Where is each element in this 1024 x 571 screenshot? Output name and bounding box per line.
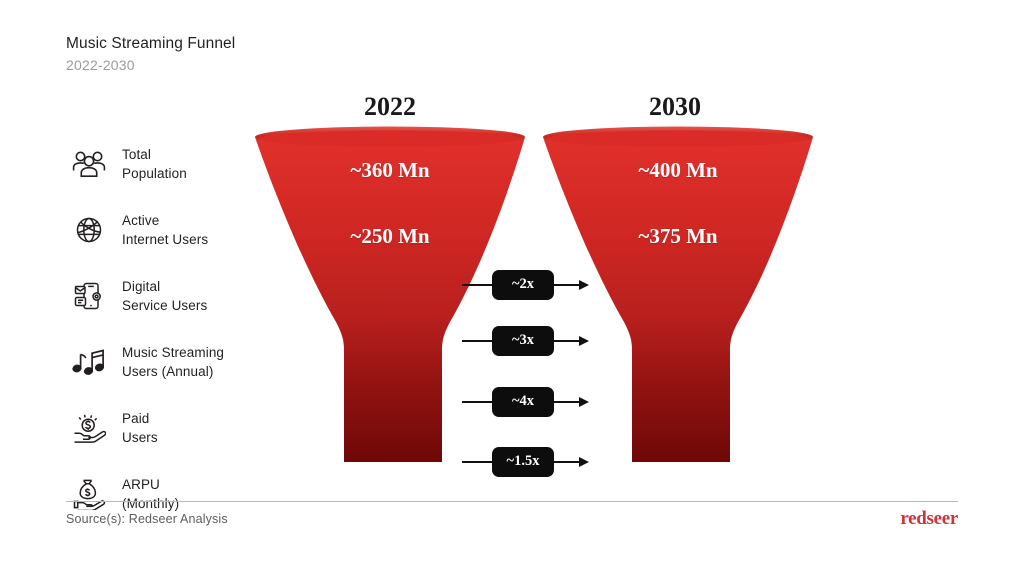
page-title: Music Streaming Funnel xyxy=(66,34,235,55)
hand-money-bag-icon xyxy=(66,472,112,516)
connector-line-left xyxy=(462,401,492,403)
multiplier-badge: ~1.5x xyxy=(492,447,554,477)
stage-row-music-streaming-users: Music Streaming Users (Annual) xyxy=(66,336,266,388)
globe-network-icon xyxy=(66,208,112,252)
arrow-right-icon xyxy=(554,461,580,463)
column-heading-2030: 2030 xyxy=(595,92,755,122)
page-subtitle: 2022-2030 xyxy=(66,56,235,75)
redseer-logo: redseer xyxy=(900,508,958,530)
stage-row-paid-users: Paid Users xyxy=(66,402,266,454)
stage-row-digital-service-users: Digital Service Users xyxy=(66,270,266,322)
stage-row-total-population: Total Population xyxy=(66,138,266,190)
stage-row-active-internet-users: Active Internet Users xyxy=(66,204,266,256)
multiplier-row-paid-users: ~4x xyxy=(462,386,602,418)
multiplier-badge: ~2x xyxy=(492,270,554,300)
stage-label: Digital Service Users xyxy=(122,277,207,315)
arrow-right-icon xyxy=(554,340,580,342)
footer-divider xyxy=(66,501,958,502)
arrow-right-icon xyxy=(554,401,580,403)
connector-line-left xyxy=(462,461,492,463)
multiplier-badge: ~4x xyxy=(492,387,554,417)
stage-label: Active Internet Users xyxy=(122,211,208,249)
stage-label: Paid Users xyxy=(122,409,158,447)
people-group-icon xyxy=(66,142,112,186)
growth-multiplier-column: ~2x ~3x ~4x ~1.5x xyxy=(462,126,602,476)
stage-label: ARPU (Monthly) xyxy=(122,475,179,513)
stage-label: Total Population xyxy=(122,145,187,183)
multiplier-row-arpu: ~1.5x xyxy=(462,446,602,478)
chart-header: Music Streaming Funnel 2022-2030 xyxy=(66,34,235,75)
mobile-device-icon xyxy=(66,274,112,318)
hand-coin-icon xyxy=(66,406,112,450)
stage-label: Music Streaming Users (Annual) xyxy=(122,343,224,381)
arrow-right-icon xyxy=(554,284,580,286)
source-note: Source(s): Redseer Analysis xyxy=(66,512,228,526)
multiplier-row-digital-service-users: ~2x xyxy=(462,269,602,301)
connector-line-left xyxy=(462,340,492,342)
column-heading-2022: 2022 xyxy=(310,92,470,122)
music-notes-icon xyxy=(66,340,112,384)
connector-line-left xyxy=(462,284,492,286)
multiplier-badge: ~3x xyxy=(492,326,554,356)
multiplier-row-music-streaming-users: ~3x xyxy=(462,325,602,357)
